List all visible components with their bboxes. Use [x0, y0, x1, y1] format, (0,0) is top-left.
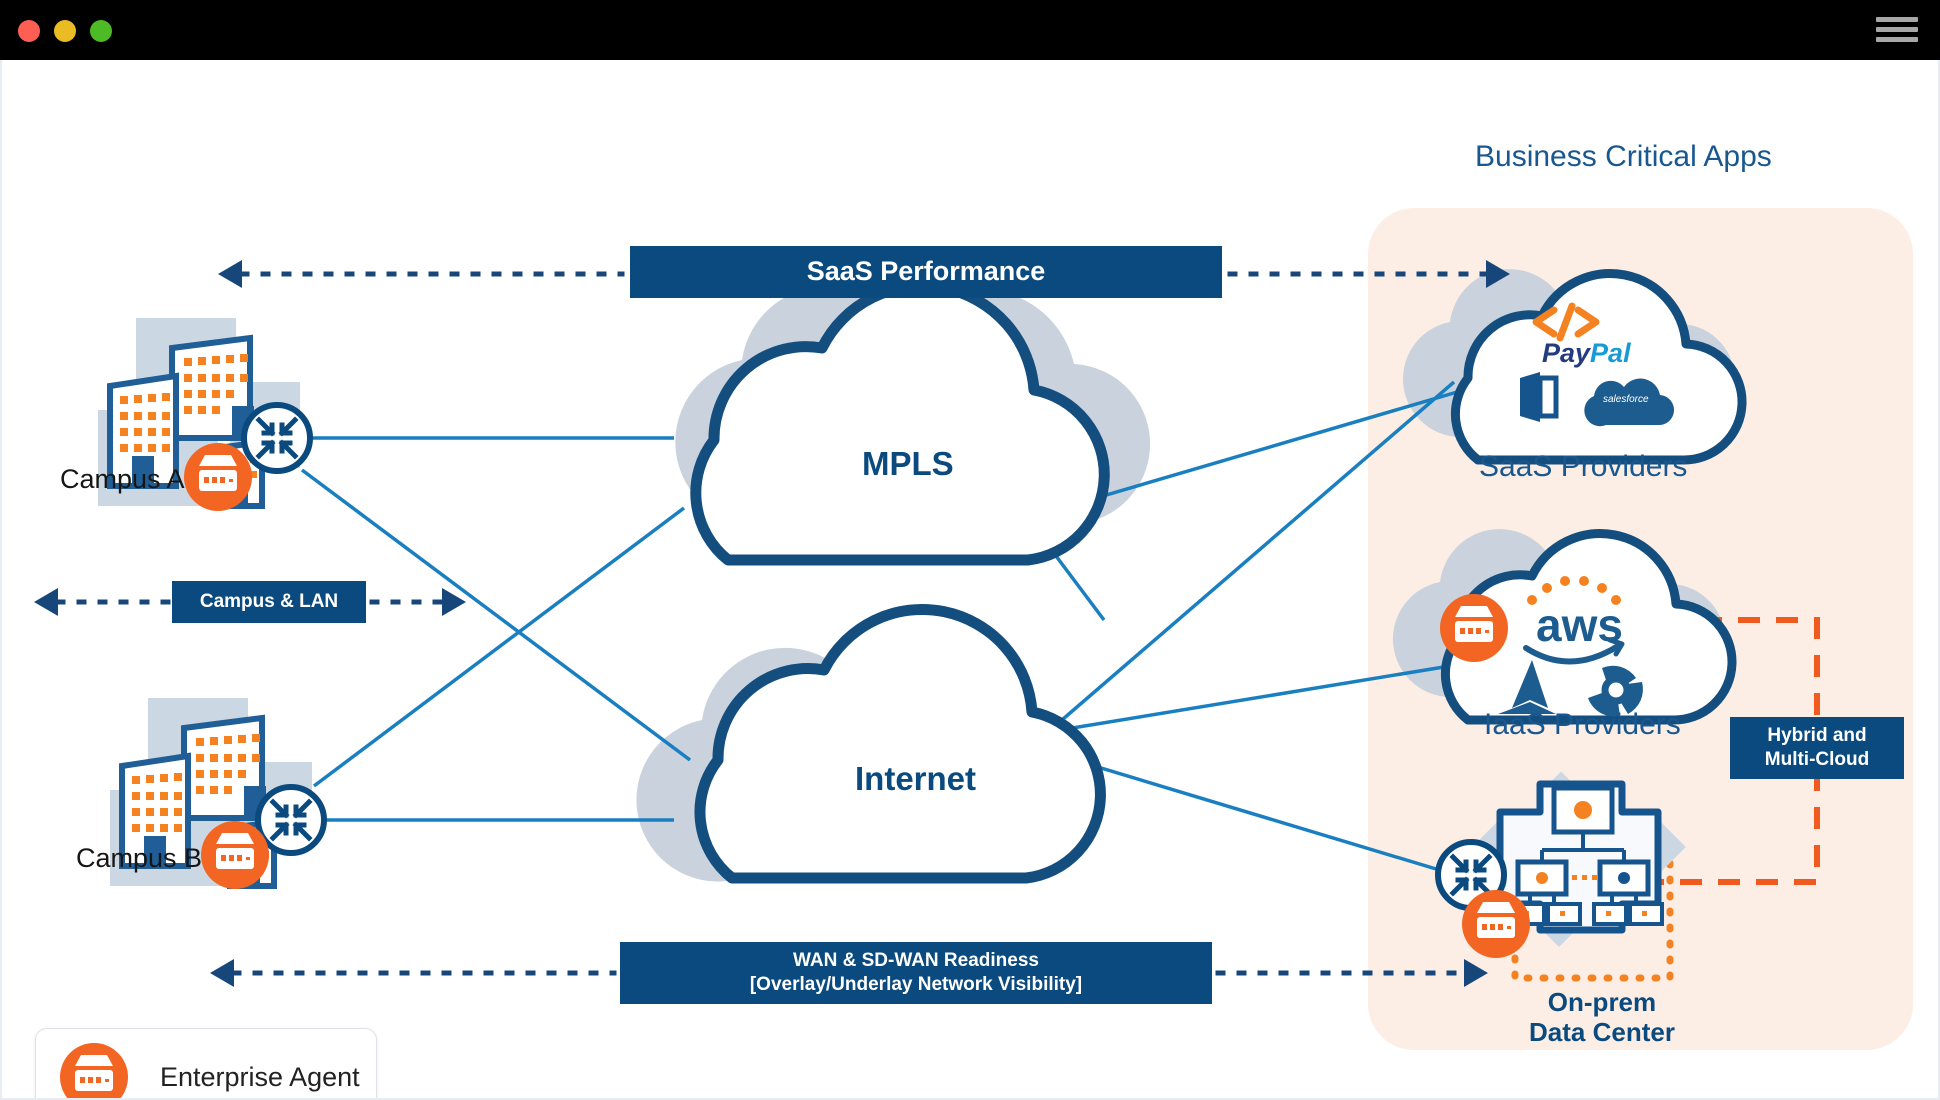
legend-enterprise-agent: Enterprise Agent [35, 1028, 377, 1100]
app-window: PayPal salesforce aws MPLS Internet SaaS… [0, 0, 1940, 1100]
maximize-button[interactable] [90, 20, 112, 42]
wan-readiness-banner[interactable]: WAN & SD-WAN Readiness [Overlay/Underlay… [620, 942, 1212, 1004]
hybrid-multicloud-badge[interactable]: Hybrid and Multi-Cloud [1730, 717, 1904, 779]
saas-performance-banner[interactable]: SaaS Performance [630, 246, 1222, 298]
saas-providers-label: SaaS Providers [1479, 450, 1687, 484]
campus-b-label: Campus B [76, 843, 202, 874]
page-title: Business Critical Apps [1475, 140, 1772, 174]
campus-b-agent-icon [201, 821, 269, 889]
link-campusB-mpls [314, 508, 684, 786]
campus-a-router-icon [244, 405, 310, 471]
paypal-logo: PayPal [1542, 338, 1631, 369]
wan-readiness-line2: [Overlay/Underlay Network Visibility] [750, 973, 1082, 997]
office-logo [1520, 372, 1556, 422]
internet-cloud-label: Internet [855, 760, 976, 798]
datacenter-agent-icon [1462, 890, 1530, 958]
on-prem-line1: On-prem [1529, 988, 1675, 1018]
internet-cloud [700, 609, 1100, 878]
aws-wordmark: aws [1536, 598, 1623, 652]
on-prem-data-center-label: On-prem Data Center [1529, 988, 1675, 1048]
diagram-canvas: PayPal salesforce aws MPLS Internet SaaS… [0, 60, 1940, 1100]
hybrid-line1: Hybrid and [1765, 724, 1869, 748]
close-button[interactable] [18, 20, 40, 42]
legend-label: Enterprise Agent [160, 1062, 360, 1093]
iaas-agent-icon [1440, 594, 1508, 662]
campus-a-agent-icon [184, 443, 252, 511]
hamburger-menu-icon[interactable] [1876, 15, 1918, 45]
campus-b-router-icon [258, 787, 324, 853]
wan-readiness-line1: WAN & SD-WAN Readiness [750, 949, 1082, 973]
hybrid-line2: Multi-Cloud [1765, 748, 1869, 772]
mpls-cloud-label: MPLS [862, 445, 954, 483]
campus-a-label: Campus A [60, 464, 185, 495]
salesforce-wordmark: salesforce [1603, 394, 1649, 405]
enterprise-agent-icon [46, 1029, 146, 1100]
minimize-button[interactable] [54, 20, 76, 42]
campus-lan-badge[interactable]: Campus & LAN [172, 581, 366, 623]
window-titlebar [0, 0, 1940, 60]
iaas-providers-label: IaaS Providers [1484, 708, 1681, 742]
on-prem-line2: Data Center [1529, 1018, 1675, 1048]
